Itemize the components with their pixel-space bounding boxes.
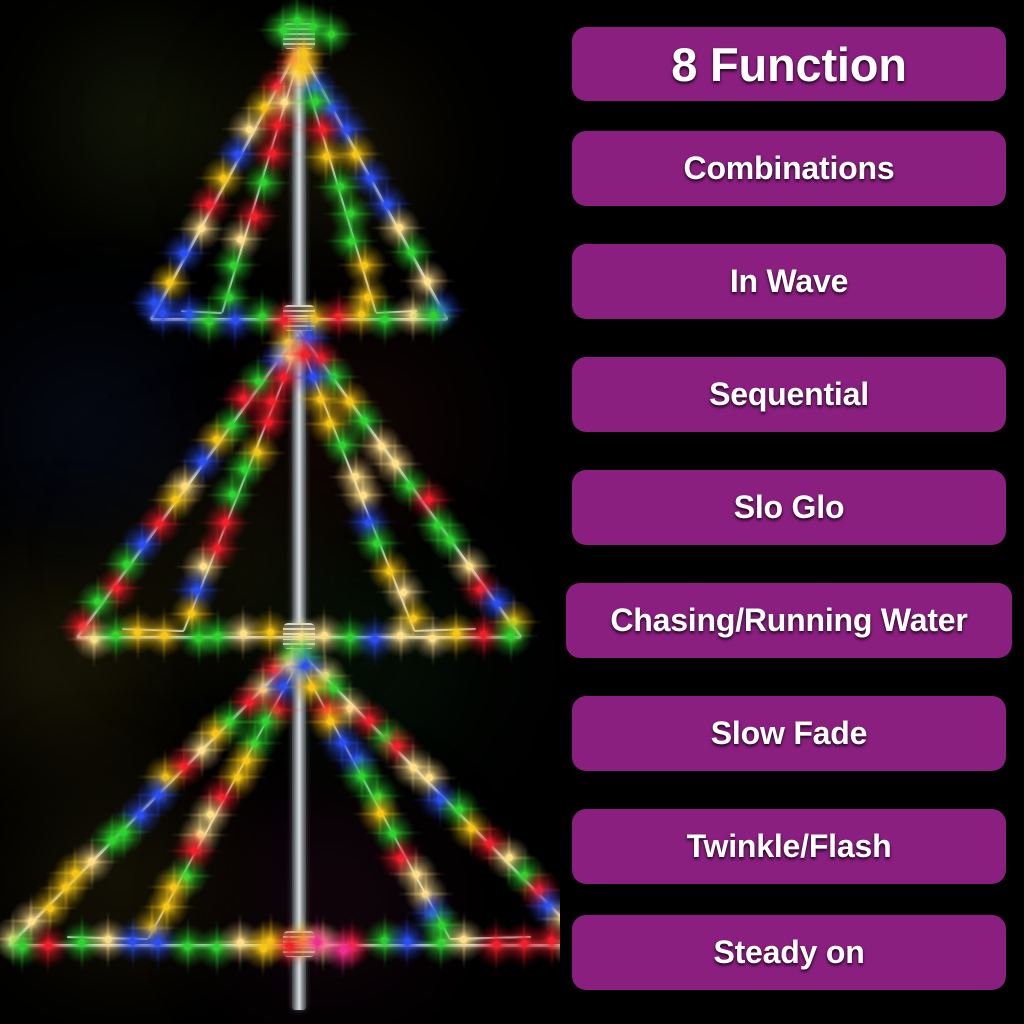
led-bulb [220,175,227,182]
led-bulb [232,317,239,324]
led-bulb [199,458,206,465]
led-bulb [308,684,315,691]
function-item-sequential[interactable]: Sequential [572,357,1006,432]
led-bulb [161,632,168,639]
led-bulb [109,837,116,844]
led-bulb [323,153,330,160]
led-bulb [234,151,241,158]
function-item-in-wave[interactable]: In Wave [572,244,1006,319]
led-bulb [340,947,347,954]
led-bulb [229,491,236,498]
led-bulb [425,496,432,503]
function-label: In Wave [730,263,848,300]
led-bulb [260,945,267,952]
function-list-panel: 8 Function Combinations In Wave Sequenti… [560,0,1024,1024]
led-bulb [267,629,274,636]
led-bulb [94,598,101,605]
led-bulb [172,496,179,503]
led-bulb [45,942,52,949]
led-bulb [265,419,272,426]
led-bulb [337,183,344,190]
led-bulb [260,179,267,186]
led-bulb [312,98,319,105]
led-bulb [294,17,301,24]
product-image-composite: 8 Function Combinations In Wave Sequenti… [0,0,1024,1024]
led-bulb [373,540,380,547]
function-label: Combinations [684,150,895,187]
function-item-chasing-running-water[interactable]: Chasing/Running Water [566,583,1012,658]
led-bulb [424,278,431,285]
led-bulb [299,64,306,71]
function-label: Steady on [713,934,864,971]
function-label: Twinkle/Flash [687,828,892,865]
led-bulb [447,537,454,544]
function-label: Chasing/Running Water [610,602,967,639]
function-item-twinkle-flash[interactable]: Twinkle/Flash [572,809,1006,884]
function-label: Sequential [709,376,869,413]
led-bulb [241,466,248,473]
led-bulb [180,250,187,257]
function-item-steady-on[interactable]: Steady on [572,915,1006,990]
function-item-slow-fade[interactable]: Slow Fade [572,696,1006,771]
tree-center-pole [292,22,306,1010]
led-bulb [361,417,368,424]
led-bulb [400,589,407,596]
led-bulb [230,262,237,269]
led-bulb [339,442,346,449]
function-item-combinations[interactable]: Combinations [572,131,1006,206]
led-bulb [269,150,276,157]
function-item-slo-glo[interactable]: Slo Glo [572,470,1006,545]
function-label: Slo Glo [734,489,845,526]
panel-header: 8 Function [572,27,1006,101]
led-bulb [460,936,467,943]
led-bulb [328,31,335,38]
led-bulb [314,939,321,946]
product-photo [0,0,560,1024]
led-bulb [274,122,281,129]
led-bulb [222,519,229,526]
led-bulb [408,249,415,256]
function-label: Slow Fade [711,715,867,752]
led-bulb [381,316,388,323]
led-bulb [198,225,205,232]
led-bulb [360,492,367,499]
led-bulb [404,938,411,945]
panel-header-label: 8 Function [671,37,907,92]
led-bulb [430,312,437,319]
led-bulb [507,633,514,640]
led-bulb [367,175,374,182]
